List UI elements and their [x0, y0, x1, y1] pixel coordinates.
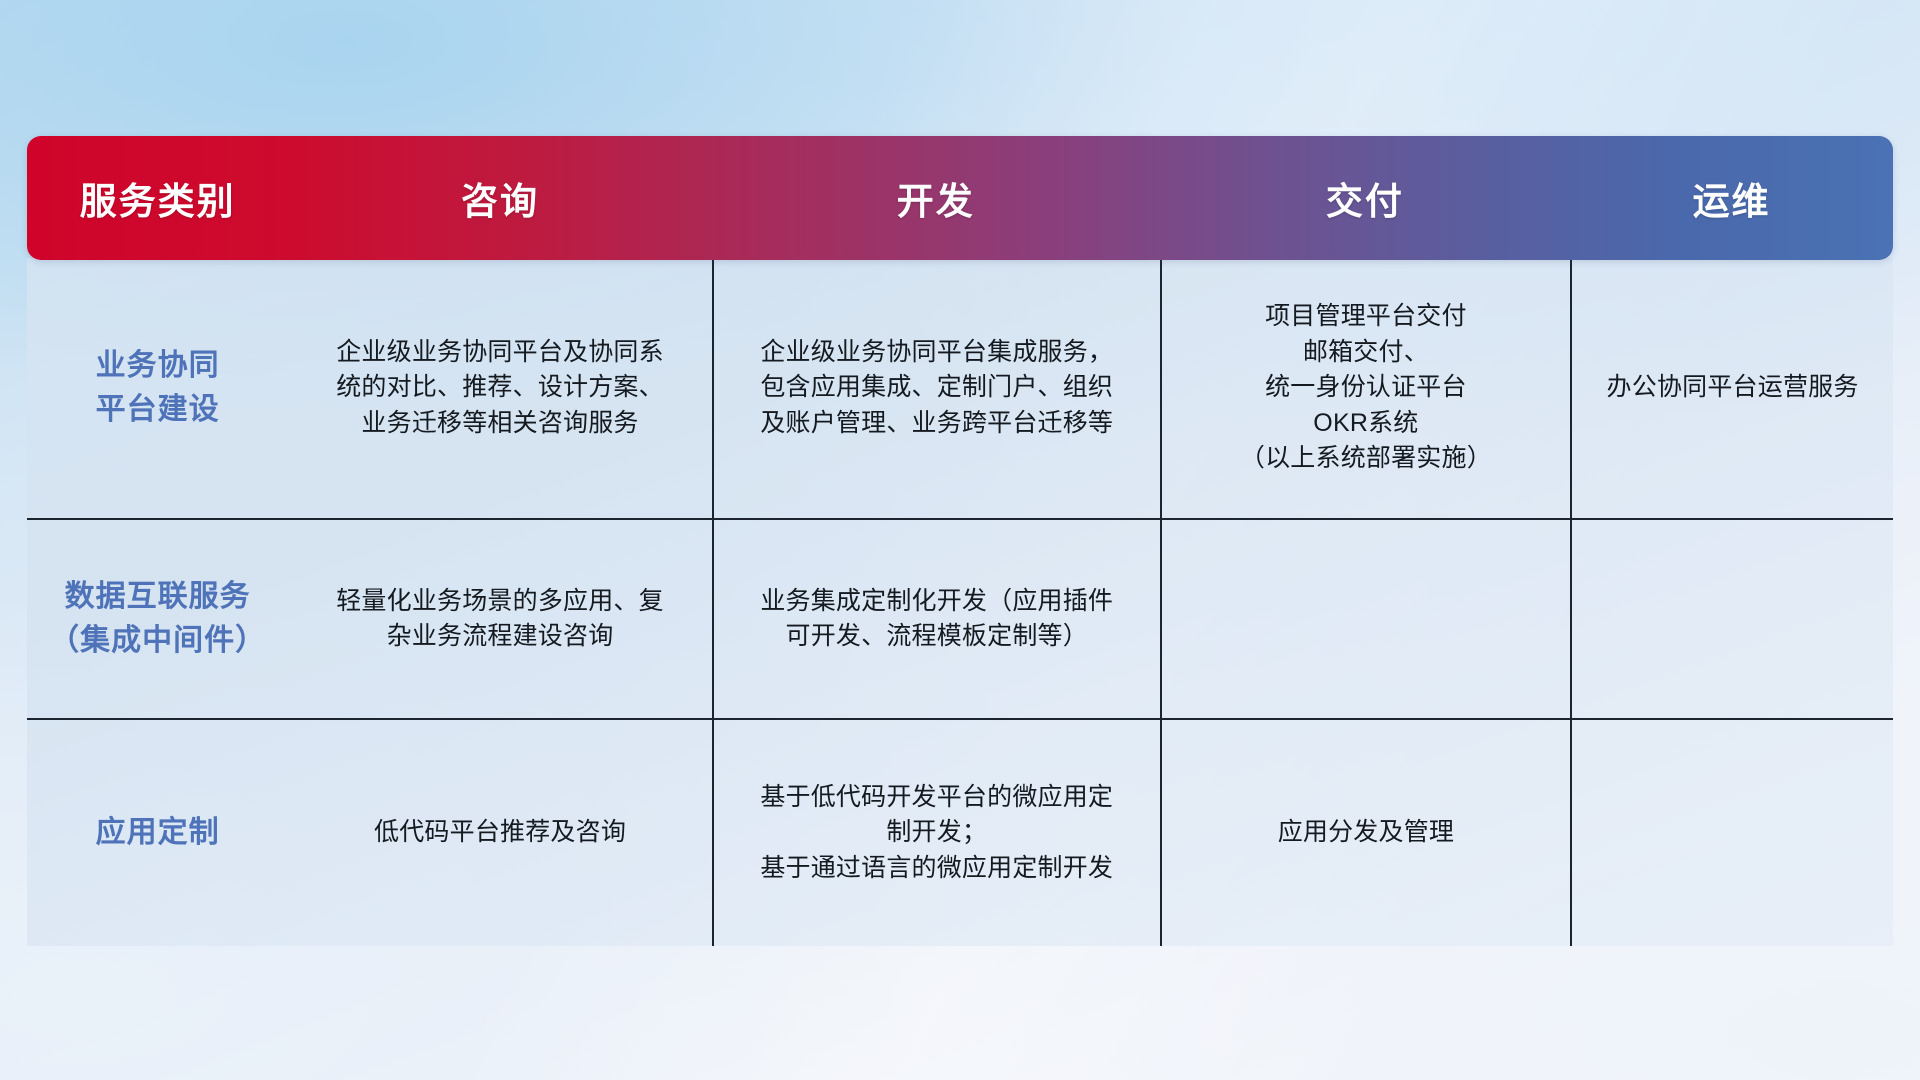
row-label-text: 业务协同 平台建设 [96, 344, 220, 433]
cell-consult-text: 轻量化业务场景的多应用、复 杂业务流程建设咨询 [336, 584, 664, 655]
cell-deliver [1160, 520, 1571, 718]
cell-consult: 企业级业务协同平台及协同系 统的对比、推荐、设计方案、 业务迁移等相关咨询服务 [288, 258, 712, 518]
cell-consult: 轻量化业务场景的多应用、复 杂业务流程建设咨询 [288, 520, 712, 718]
column-header-consult-label: 咨询 [461, 171, 539, 225]
service-category-table: 服务类别 咨询 开发 交付 运维 业务协同 平台建设 企业级业务协同平台及协同系… [27, 136, 1893, 946]
row-label-text: 数据互联服务 （集成中间件） [49, 575, 266, 664]
table-row: 应用定制 低代码平台推荐及咨询 基于低代码开发平台的微应用定 制开发； 基于通过… [27, 718, 1893, 946]
cell-develop-text: 企业级业务协同平台集成服务， 包含应用集成、定制门户、组织 及账户管理、业务跨平… [760, 335, 1113, 442]
column-header-ops-label: 运维 [1693, 171, 1771, 225]
cell-ops-text: 办公协同平台运营服务 [1607, 370, 1859, 406]
column-header-deliver-label: 交付 [1326, 171, 1404, 225]
cell-ops [1570, 520, 1893, 718]
cell-develop-text: 业务集成定制化开发（应用插件 可开发、流程模板定制等） [760, 584, 1113, 655]
cell-ops [1570, 720, 1893, 946]
cell-deliver: 应用分发及管理 [1160, 720, 1571, 946]
column-header-ops: 运维 [1570, 136, 1893, 260]
column-header-consult: 咨询 [288, 136, 712, 260]
cell-consult-text: 企业级业务协同平台及协同系 统的对比、推荐、设计方案、 业务迁移等相关咨询服务 [336, 335, 664, 442]
row-label-cell: 应用定制 [27, 720, 288, 946]
column-header-category-label: 服务类别 [80, 171, 236, 225]
cell-ops: 办公协同平台运营服务 [1570, 258, 1893, 518]
table-row: 业务协同 平台建设 企业级业务协同平台及协同系 统的对比、推荐、设计方案、 业务… [27, 258, 1893, 518]
cell-consult-text: 低代码平台推荐及咨询 [374, 815, 626, 851]
column-header-deliver: 交付 [1160, 136, 1571, 260]
cell-deliver: 项目管理平台交付 邮箱交付、 统一身份认证平台 OKR系统 （以上系统部署实施） [1160, 258, 1571, 518]
table-row: 数据互联服务 （集成中间件） 轻量化业务场景的多应用、复 杂业务流程建设咨询 业… [27, 518, 1893, 718]
cell-develop: 业务集成定制化开发（应用插件 可开发、流程模板定制等） [712, 520, 1160, 718]
cell-develop: 基于低代码开发平台的微应用定 制开发； 基于通过语言的微应用定制开发 [712, 720, 1160, 946]
table-body-panel: 业务协同 平台建设 企业级业务协同平台及协同系 统的对比、推荐、设计方案、 业务… [27, 258, 1893, 946]
row-label-cell: 数据互联服务 （集成中间件） [27, 520, 288, 718]
row-label-text: 应用定制 [96, 811, 220, 855]
column-header-develop: 开发 [712, 136, 1160, 260]
column-header-category: 服务类别 [27, 136, 288, 260]
cell-deliver-text: 项目管理平台交付 邮箱交付、 统一身份认证平台 OKR系统 （以上系统部署实施） [1240, 299, 1492, 477]
row-label-cell: 业务协同 平台建设 [27, 258, 288, 518]
table-header-row: 服务类别 咨询 开发 交付 运维 [27, 136, 1893, 260]
cell-consult: 低代码平台推荐及咨询 [288, 720, 712, 946]
cell-deliver-text: 应用分发及管理 [1278, 815, 1454, 851]
cell-develop-text: 基于低代码开发平台的微应用定 制开发； 基于通过语言的微应用定制开发 [760, 780, 1113, 887]
column-header-develop-label: 开发 [897, 171, 975, 225]
cell-develop: 企业级业务协同平台集成服务， 包含应用集成、定制门户、组织 及账户管理、业务跨平… [712, 258, 1160, 518]
